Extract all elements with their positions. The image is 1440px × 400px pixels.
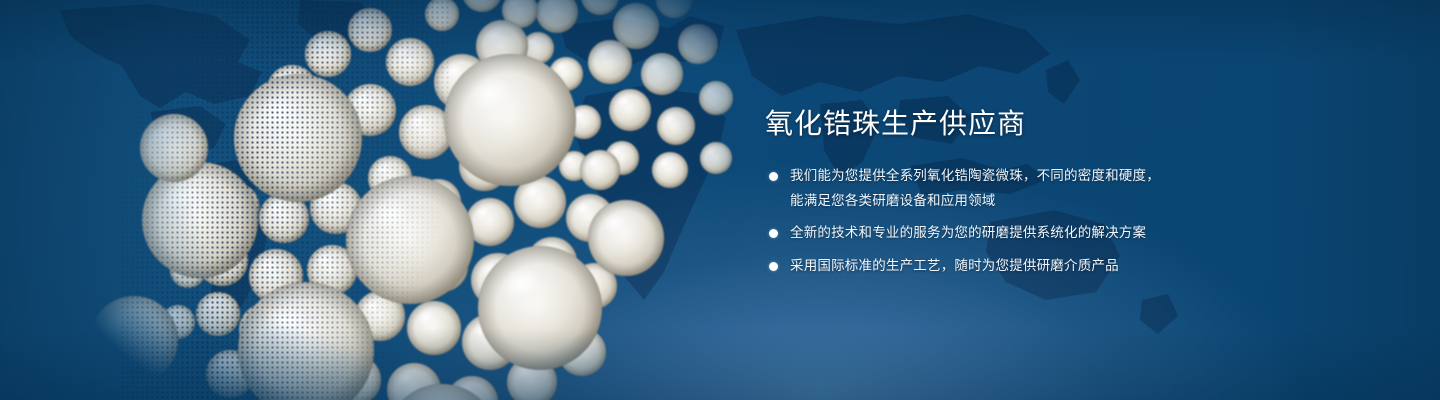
- list-item-line: 能满足您各类研磨设备和应用领域: [790, 189, 1235, 214]
- bullet-dot-icon: [769, 262, 778, 271]
- banner-copy: 氧化锆珠生产供应商 我们能为您提供全系列氧化锆陶瓷微珠，不同的密度和硬度， 能满…: [765, 106, 1235, 278]
- list-item: 采用国际标准的生产工艺，随时为您提供研磨介质产品: [765, 254, 1235, 279]
- list-item-line: 我们能为您提供全系列氧化锆陶瓷微珠，不同的密度和硬度，: [790, 164, 1235, 189]
- hero-banner: 氧化锆珠生产供应商 我们能为您提供全系列氧化锆陶瓷微珠，不同的密度和硬度， 能满…: [0, 0, 1440, 400]
- feature-list: 我们能为您提供全系列氧化锆陶瓷微珠，不同的密度和硬度， 能满足您各类研磨设备和应…: [765, 164, 1235, 278]
- list-item-line: 采用国际标准的生产工艺，随时为您提供研磨介质产品: [790, 254, 1235, 279]
- list-item-line: 全新的技术和专业的服务为您的研磨提供系统化的解决方案: [790, 221, 1235, 246]
- list-item: 全新的技术和专业的服务为您的研磨提供系统化的解决方案: [765, 221, 1235, 246]
- bullet-dot-icon: [769, 172, 778, 181]
- list-item: 我们能为您提供全系列氧化锆陶瓷微珠，不同的密度和硬度， 能满足您各类研磨设备和应…: [765, 164, 1235, 213]
- page-title: 氧化锆珠生产供应商: [765, 106, 1235, 142]
- bullet-dot-icon: [769, 229, 778, 238]
